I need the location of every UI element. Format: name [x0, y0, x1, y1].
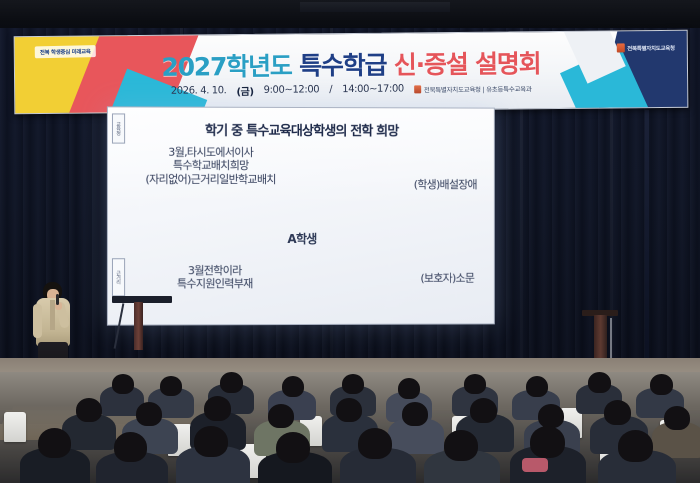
slide-text-right-top: (학생)배설장애: [391, 178, 500, 191]
attendee-head: [538, 404, 564, 428]
event-banner: 전북 학생중심 미래교육 전북특별자치도교육청 2027학년도 특수학급 신·증…: [14, 30, 689, 114]
attendee-head: [220, 372, 243, 393]
attendee-head: [336, 398, 362, 422]
banner-time-morning: 9:00~12:00: [264, 84, 320, 96]
slide-text-right-bottom: (보호자)소문: [393, 272, 502, 286]
attendee-head: [530, 426, 565, 458]
attendee-head: [604, 400, 631, 425]
attendee-head: [618, 430, 653, 462]
banner-title-accent: 신·증설 설명회: [394, 49, 541, 79]
attendee-head: [194, 426, 228, 457]
chair: [4, 412, 26, 442]
slide-title: 학기 중 특수교육대상학생의 전학 희망: [146, 120, 456, 140]
attendee-head: [650, 374, 673, 395]
attendee-head: [526, 376, 548, 397]
banner-title-year: 2027학년도: [161, 52, 291, 82]
attendee-head: [114, 432, 147, 462]
banner-time-afternoon: 14:00~17:00: [342, 83, 404, 95]
banner-day: (금): [236, 83, 253, 98]
audience-area: [0, 372, 700, 483]
banner-title-mid: 특수학급: [299, 51, 386, 81]
photo-scene: 전북 학생중심 미래교육 전북특별자치도교육청 2027학년도 특수학급 신·증…: [0, 0, 700, 483]
attendee-head: [204, 396, 231, 421]
lectern-right-body: [594, 315, 607, 363]
organizer-emblem-icon: [414, 85, 421, 93]
presenter-left-arm: [33, 304, 42, 338]
curtain-seam: [645, 110, 649, 380]
projection-screen: 교육청 근거리 학기 중 특수교육대상학생의 전학 희망 3월,타시도에서이사 …: [107, 106, 495, 325]
slide-center-label: A학생: [247, 232, 357, 247]
attendee-head: [38, 428, 71, 458]
attendee-head: [268, 404, 294, 428]
attendee-scarf: [522, 458, 548, 472]
attendee-head: [76, 398, 102, 422]
slide-vertical-label-top: 교육청: [112, 113, 125, 143]
banner-organizer-label: 전북특별자치도교육청 | 유초등특수교육과: [424, 83, 532, 94]
attendee-head: [160, 376, 182, 396]
attendee-head: [444, 430, 478, 461]
slide-vertical-label-bottom: 근거리: [112, 258, 125, 296]
banner-time-separator: /: [329, 84, 332, 95]
banner-date: 2026. 4. 10.: [171, 85, 227, 97]
attendee-head: [112, 374, 134, 394]
attendee-head: [358, 428, 392, 459]
microphone-icon: [56, 294, 59, 305]
attendee-head: [402, 402, 428, 426]
attendee-head: [342, 374, 364, 394]
attendee-head: [588, 372, 611, 393]
slide-text-left-bottom: 3월전학이라 특수지원인력부재: [144, 264, 285, 291]
attendee-head: [664, 406, 690, 430]
slide-text-left-top: 3월,타시도에서이사 특수학교배치희망 (자리없어)근거리일반학교배치: [130, 146, 291, 187]
lectern-left-post: [134, 302, 143, 350]
attendee-head: [136, 402, 162, 426]
attendee-head: [276, 432, 310, 463]
attendee-head: [464, 374, 486, 394]
attendee-head: [398, 378, 420, 399]
banner-organizer: 전북특별자치도교육청 | 유초등특수교육과: [414, 83, 532, 94]
ceiling-vent: [300, 2, 450, 12]
attendee-head: [470, 398, 497, 423]
attendee-head: [282, 376, 304, 397]
